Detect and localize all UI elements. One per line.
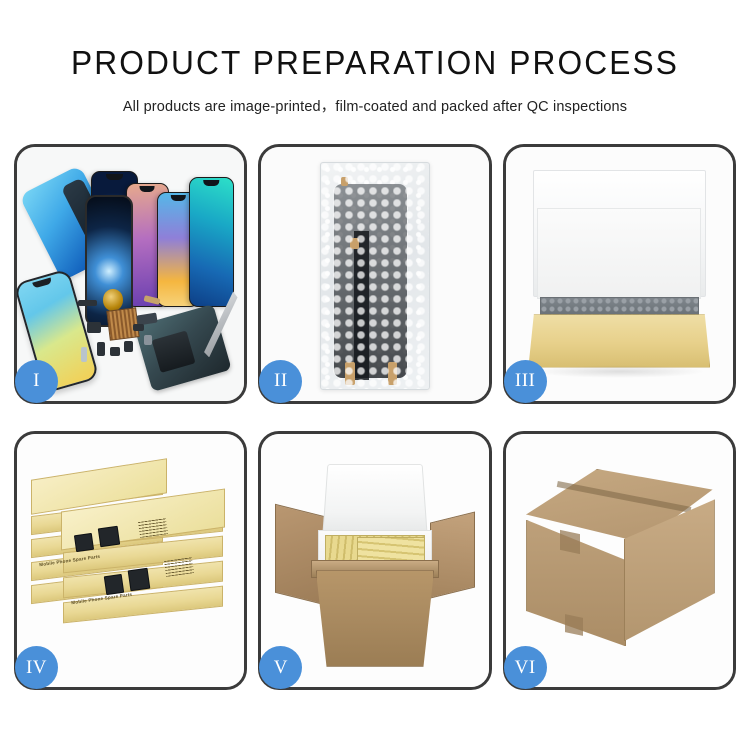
speaker-coil-icon bbox=[103, 289, 122, 311]
flex-cable-icon bbox=[133, 324, 144, 330]
notch-icon bbox=[140, 186, 155, 192]
step-5-image bbox=[261, 434, 488, 688]
small-part-icon bbox=[110, 347, 120, 356]
notch-icon bbox=[204, 180, 219, 186]
notch-icon bbox=[171, 195, 185, 201]
step-badge-3: III bbox=[504, 360, 547, 403]
carton-flap-right-icon bbox=[430, 511, 475, 598]
phone-teal-icon bbox=[189, 177, 234, 306]
box-spec-lines bbox=[164, 556, 194, 577]
box-phone-image-icon bbox=[103, 574, 124, 596]
small-part-icon bbox=[97, 342, 105, 356]
box-stack: Mobile Phone Spare Parts Mobile Phone Sp… bbox=[31, 469, 231, 662]
process-step-2: II bbox=[258, 144, 491, 404]
bubble-wrap-bag-icon bbox=[320, 162, 429, 390]
foam-sheet-icon bbox=[537, 208, 701, 299]
step-3-image bbox=[506, 147, 733, 401]
small-part-icon bbox=[124, 341, 133, 352]
step-2-image bbox=[261, 147, 488, 401]
step-badge-2: II bbox=[259, 360, 302, 403]
box-phone-image-icon bbox=[127, 568, 150, 592]
flex-cable-icon bbox=[87, 322, 101, 333]
box-shadow bbox=[533, 365, 706, 378]
carton-body-icon bbox=[316, 570, 434, 666]
yellow-box-base-icon bbox=[528, 314, 710, 367]
carton-tape-icon bbox=[565, 614, 583, 636]
foam-lid-icon bbox=[322, 465, 427, 536]
process-step-5: V bbox=[258, 431, 491, 691]
process-step-6: VI bbox=[503, 431, 736, 691]
box-phone-image-icon bbox=[97, 525, 119, 547]
header: PRODUCT PREPARATION PROCESS All products… bbox=[0, 0, 750, 116]
page-subtitle: All products are image-printed，film-coat… bbox=[0, 95, 750, 116]
step-6-image bbox=[506, 434, 733, 688]
step-badge-6: VI bbox=[504, 646, 547, 689]
step-4-image: Mobile Phone Spare Parts Mobile Phone Sp… bbox=[17, 434, 244, 688]
product-preparation-infographic: PRODUCT PREPARATION PROCESS All products… bbox=[0, 0, 750, 750]
step-1-image bbox=[17, 147, 244, 401]
sim-tray-icon bbox=[144, 335, 152, 345]
notch-icon bbox=[106, 174, 122, 180]
step-badge-4: IV bbox=[15, 646, 58, 689]
box-phone-image-icon bbox=[74, 533, 94, 553]
page-title: PRODUCT PREPARATION PROCESS bbox=[15, 46, 735, 79]
process-step-1: I bbox=[14, 144, 247, 404]
process-step-3: III bbox=[503, 144, 736, 404]
step-badge-1: I bbox=[15, 360, 58, 403]
battery-connector-icon bbox=[81, 347, 88, 362]
process-step-4: Mobile Phone Spare Parts Mobile Phone Sp… bbox=[14, 431, 247, 691]
bubble-texture-icon bbox=[321, 163, 428, 389]
process-step-grid: I II bbox=[14, 144, 736, 690]
flex-cable-icon bbox=[78, 300, 96, 306]
